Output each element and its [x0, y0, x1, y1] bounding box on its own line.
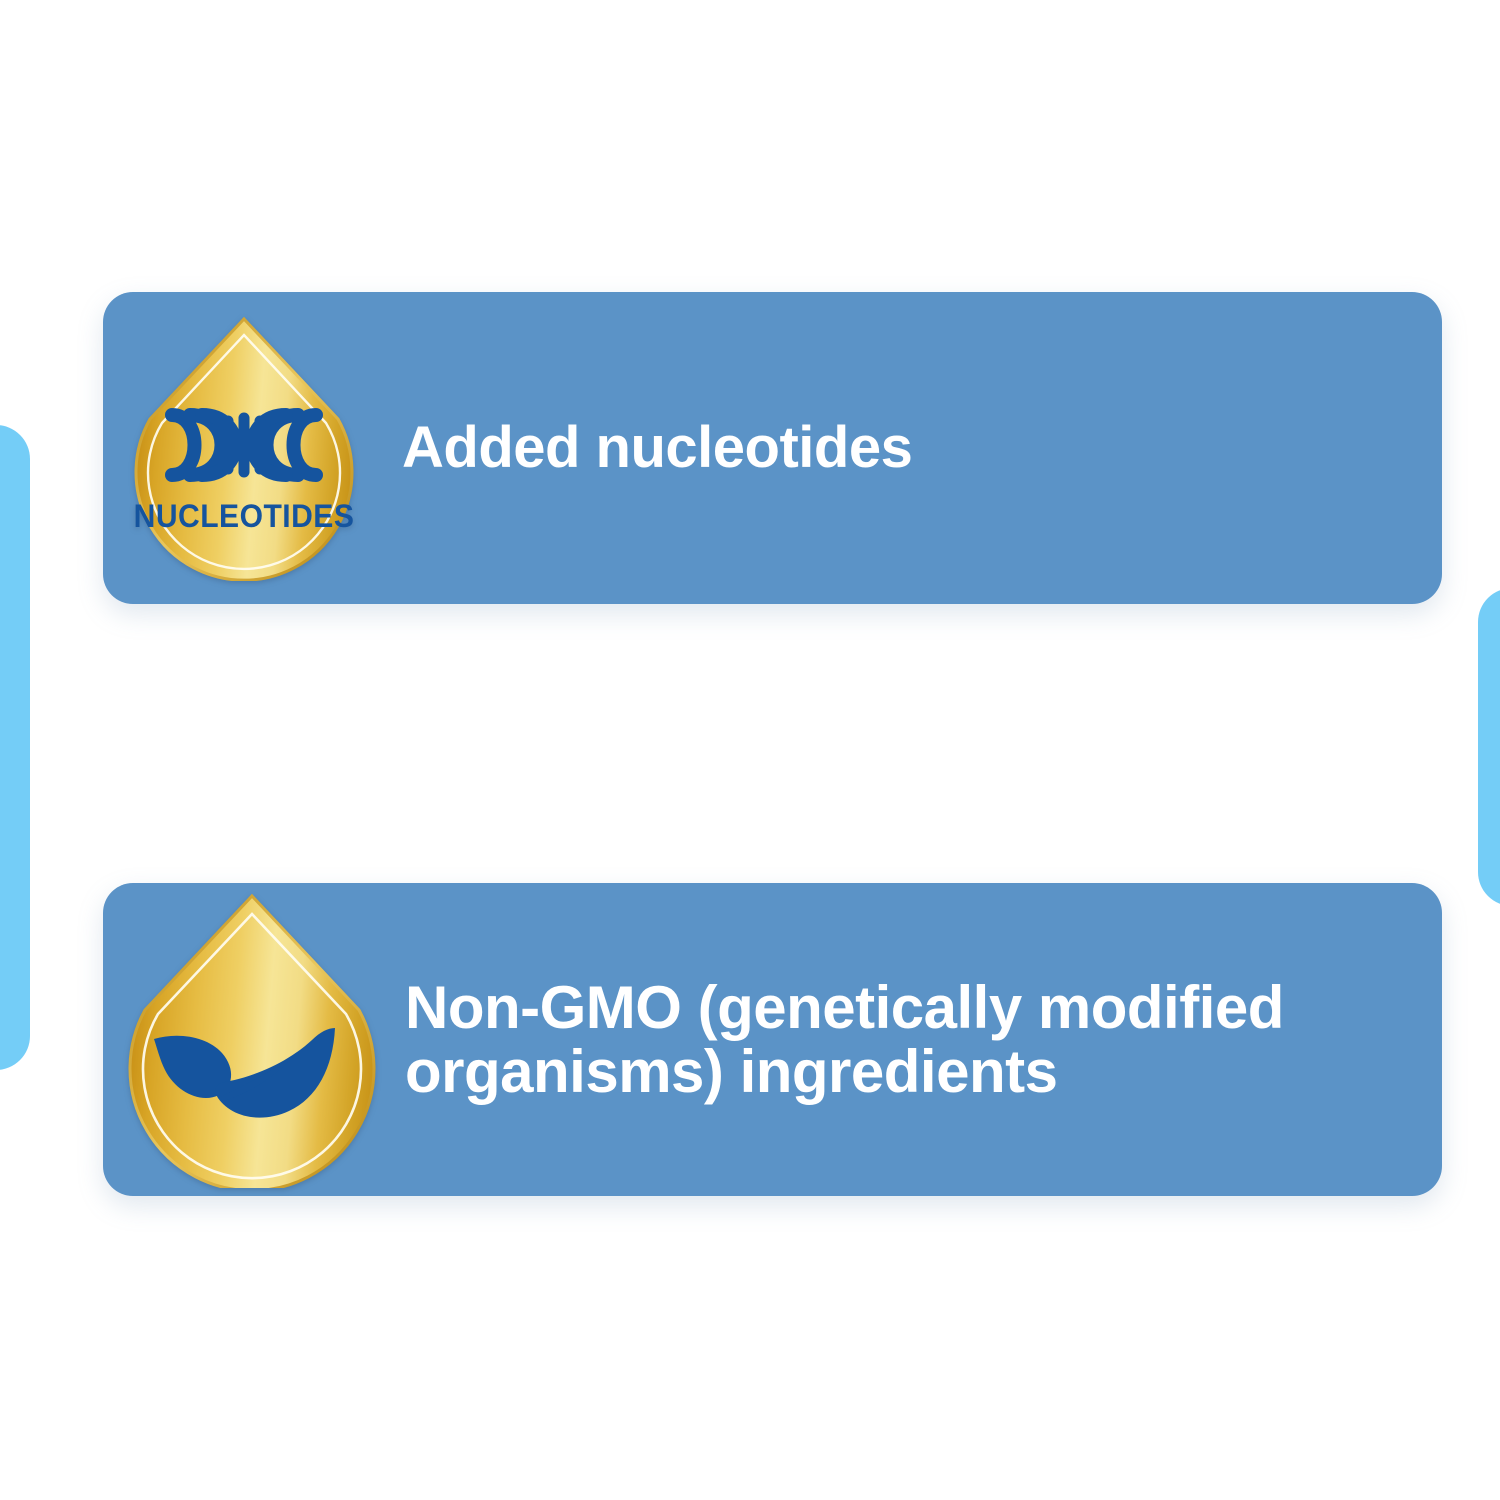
badge-caption: NUCLEOTIDES	[134, 498, 355, 534]
feature-card-non-gmo[interactable]: Non-GMO (genetically modified organisms)…	[103, 883, 1442, 1196]
card-label: Non-GMO (genetically modified organisms)…	[405, 976, 1284, 1103]
right-partial-panel	[1478, 588, 1500, 906]
feature-card-added-nucleotides[interactable]: NUCLEOTIDES Added nucleotides	[103, 292, 1442, 604]
card-label: Added nucleotides	[402, 417, 912, 478]
non-gmo-badge	[121, 892, 383, 1188]
dna-rungs	[228, 418, 260, 472]
nucleotides-badge: NUCLEOTIDES	[128, 315, 360, 581]
page-root: NUCLEOTIDES Added nucleotides	[0, 0, 1500, 1500]
left-partial-panel	[0, 425, 30, 1070]
